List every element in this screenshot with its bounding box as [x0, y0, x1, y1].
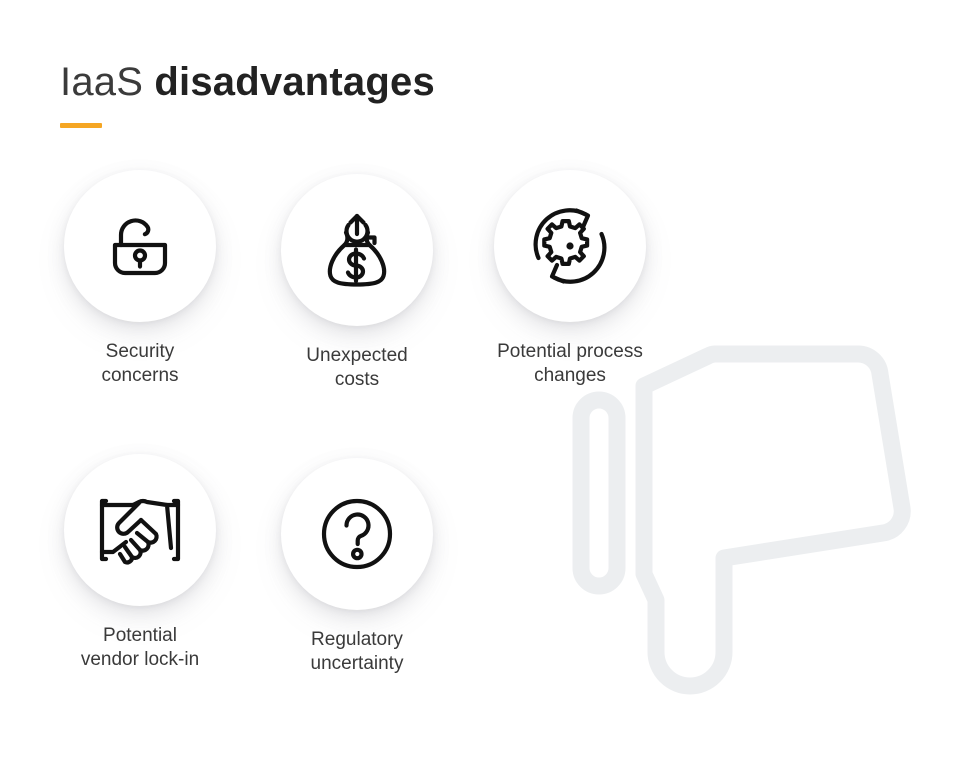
handshake-icon [93, 486, 187, 574]
infographic-canvas: IaaS disadvantages [0, 0, 960, 766]
item-label: Unexpected costs [247, 344, 467, 392]
item-regulatory-uncertainty[interactable]: Regulatory uncertainty [247, 458, 467, 676]
title-block: IaaS disadvantages [60, 56, 435, 128]
page-title: IaaS disadvantages [60, 56, 435, 108]
icon-bubble [494, 170, 646, 322]
icon-bubble [281, 174, 433, 326]
question-mark-circle-icon [317, 494, 397, 574]
title-accent-bar [60, 123, 102, 128]
icon-bubble [281, 458, 433, 610]
item-potential-vendor-lock-in[interactable]: Potential vendor lock-in [30, 454, 250, 672]
item-label: Security concerns [30, 340, 250, 388]
page-title-light: IaaS [60, 60, 154, 104]
item-label: Regulatory uncertainty [247, 628, 467, 676]
icon-bubble [64, 170, 216, 322]
item-unexpected-costs[interactable]: Unexpected costs [247, 174, 467, 392]
gear-refresh-icon [524, 200, 616, 292]
icon-bubble [64, 454, 216, 606]
unlock-icon [99, 205, 181, 287]
item-label: Potential process changes [450, 340, 690, 388]
item-security-concerns[interactable]: Security concerns [30, 170, 250, 388]
item-label: Potential vendor lock-in [30, 624, 250, 672]
money-bag-arrow-up-icon [315, 208, 399, 292]
page-title-bold: disadvantages [154, 60, 435, 104]
item-potential-process-changes[interactable]: Potential process changes [460, 170, 680, 388]
